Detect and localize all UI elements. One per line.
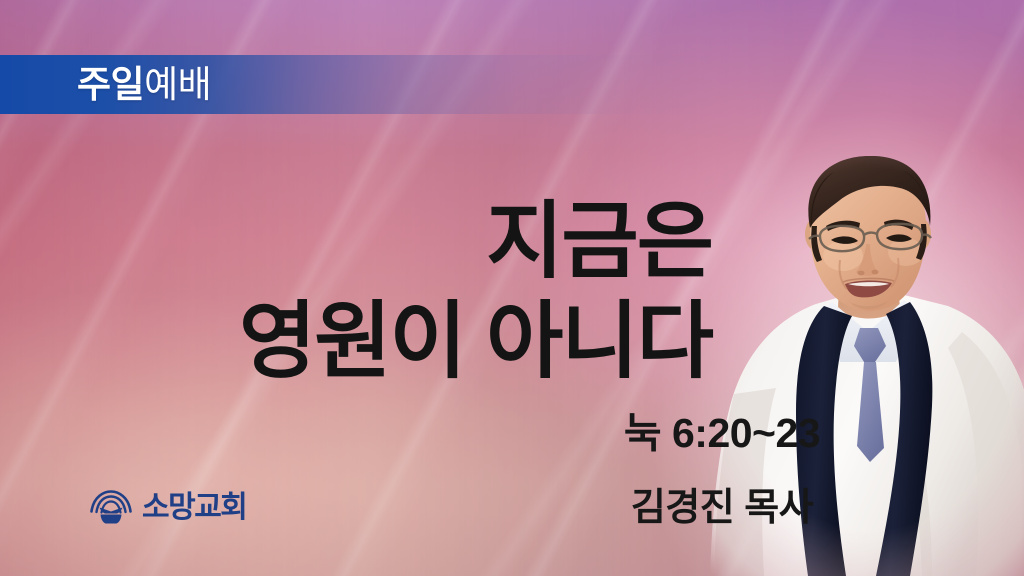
worship-category-light: 예배 (144, 64, 211, 105)
worship-category-banner: 주일예배 (0, 55, 740, 114)
sermon-title-slide: 주일예배 지금은 영원이 아니다 눅 6:20~23 김경진 목사 (0, 0, 1024, 576)
pastor-portrait (700, 156, 1024, 576)
worship-category-label: 주일예배 (77, 66, 211, 103)
sermon-title-line-1: 지금은 (486, 199, 712, 283)
worship-category-strong: 주일 (77, 64, 144, 105)
open-book-with-arcs-icon (88, 490, 134, 526)
church-name: 소망교회 (142, 493, 246, 523)
sermon-title-line-2: 영원이 아니다 (239, 299, 712, 383)
church-logo: 소망교회 (88, 487, 246, 529)
